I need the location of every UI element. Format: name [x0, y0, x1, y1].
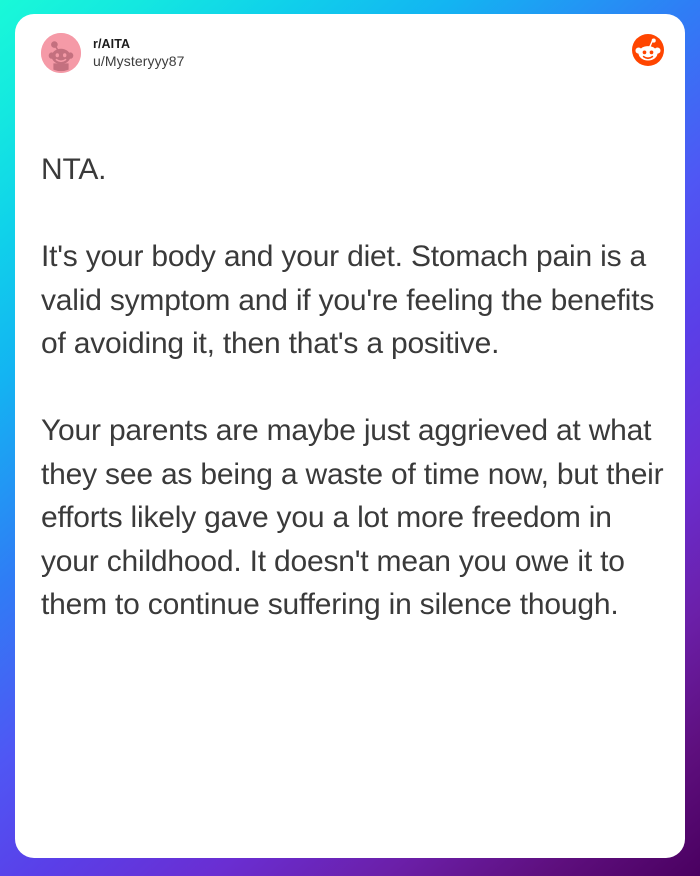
reddit-post-card: r/AITA u/Mysteryyy87	[15, 14, 685, 858]
post-paragraph: Your parents are maybe just aggrieved at…	[41, 409, 667, 627]
post-identity: r/AITA u/Mysteryyy87	[93, 38, 185, 69]
post-paragraph: NTA.	[41, 148, 667, 192]
gradient-background: r/AITA u/Mysteryyy87	[0, 0, 700, 876]
post-paragraph: It's your body and your diet. Stomach pa…	[41, 235, 667, 366]
username[interactable]: u/Mysteryyy87	[93, 54, 185, 68]
post-header: r/AITA u/Mysteryyy87	[41, 33, 185, 73]
snoo-avatar-icon	[41, 33, 81, 73]
post-body: NTA. It's your body and your diet. Stoma…	[41, 148, 667, 627]
reddit-logo-icon	[632, 34, 664, 66]
subreddit-name[interactable]: r/AITA	[93, 38, 185, 51]
